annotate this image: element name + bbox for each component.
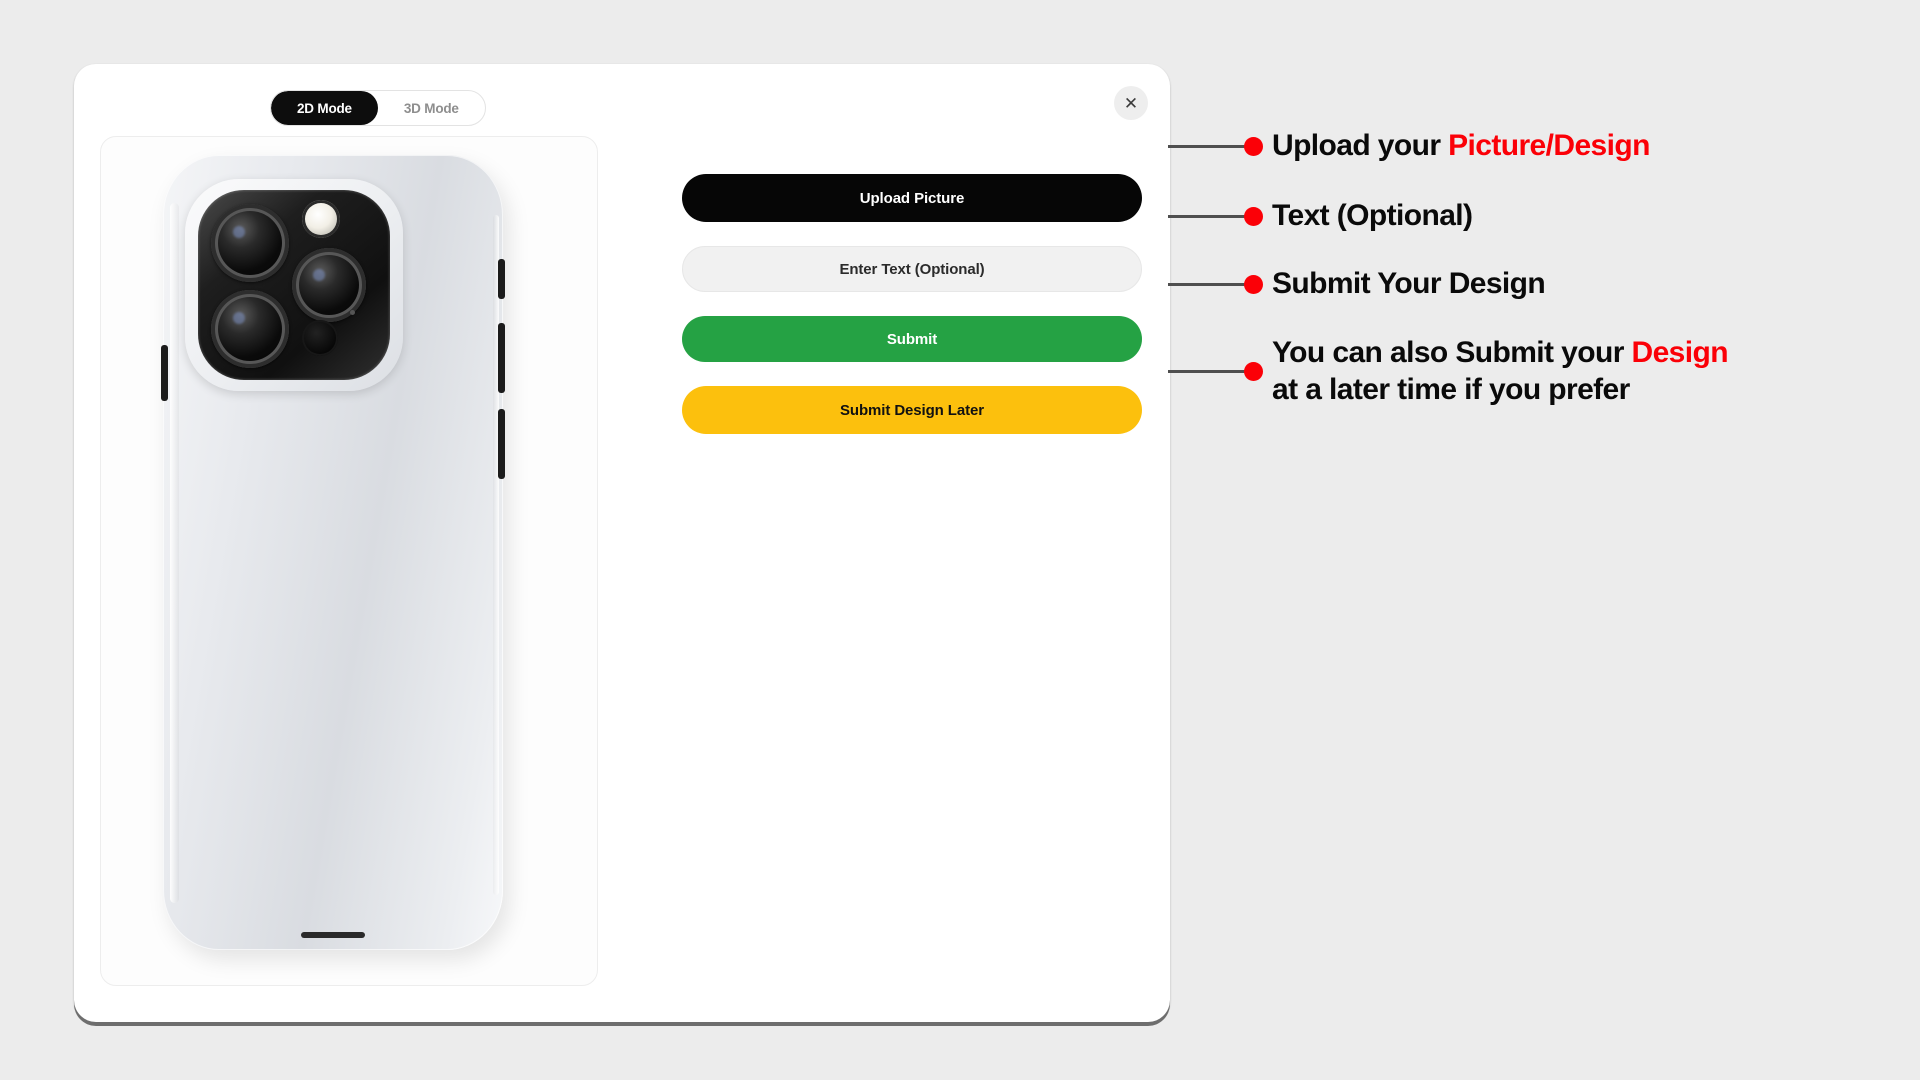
action-button-cutout [498, 259, 505, 299]
bullet-dot-icon [1244, 275, 1263, 294]
annotation-text-black: Text (Optional) [1272, 199, 1472, 232]
annotation-submit-black: Submit Your Design [1272, 267, 1545, 300]
phone-case-mockup [163, 155, 503, 955]
tab-2d-mode[interactable]: 2D Mode [271, 91, 378, 125]
annotation-later: You can also Submit your Design at a lat… [1168, 335, 1728, 408]
lidar-sensor-icon [302, 320, 338, 356]
tab-3d-mode[interactable]: 3D Mode [378, 91, 485, 125]
bullet-dot-icon [1244, 362, 1263, 381]
submit-design-later-button[interactable]: Submit Design Later [682, 386, 1142, 434]
case-left-rail [170, 203, 179, 903]
ultrawide-lens-icon [211, 290, 289, 368]
annotation-later-black-2: at a later time if you prefer [1272, 373, 1630, 406]
annotation-upload-red: Picture/Design [1448, 129, 1650, 162]
flash-icon [302, 200, 340, 238]
enter-text-input[interactable]: Enter Text (Optional) [682, 246, 1142, 292]
close-icon[interactable]: ✕ [1114, 86, 1148, 120]
annotation-upload: Upload your Picture/Design [1168, 128, 1650, 165]
annotation-later-text: You can also Submit your Design at a lat… [1272, 335, 1728, 408]
bullet-dot-icon [1244, 137, 1263, 156]
mute-button-cutout [161, 345, 168, 401]
case-right-rail [493, 215, 499, 895]
controls-column: Upload Picture Enter Text (Optional) Sub… [682, 174, 1142, 458]
annotation-text-text: Text (Optional) [1272, 198, 1472, 235]
volume-down-button-cutout [498, 409, 505, 479]
submit-button[interactable]: Submit [682, 316, 1142, 362]
camera-island [198, 190, 390, 380]
annotation-later-red: Design [1632, 336, 1728, 369]
leader-line [1168, 283, 1246, 286]
annotation-submit-text: Submit Your Design [1272, 266, 1545, 303]
microphone-icon [350, 310, 355, 315]
product-preview-pane[interactable] [100, 136, 598, 986]
annotation-later-black-1: You can also Submit your [1272, 336, 1632, 369]
camera-plateau [185, 179, 403, 391]
annotation-upload-black: Upload your [1272, 129, 1448, 162]
design-upload-modal: ✕ 2D Mode 3D Mode [74, 64, 1170, 1022]
annotation-submit: Submit Your Design [1168, 266, 1545, 303]
annotation-upload-text: Upload your Picture/Design [1272, 128, 1650, 165]
volume-up-button-cutout [498, 323, 505, 393]
leader-line [1168, 145, 1246, 148]
mode-toggle[interactable]: 2D Mode 3D Mode [270, 90, 486, 126]
annotation-overlay: Upload your Picture/Design Text (Optiona… [1168, 0, 1920, 1080]
annotation-text: Text (Optional) [1168, 198, 1472, 235]
upload-picture-button[interactable]: Upload Picture [682, 174, 1142, 222]
leader-line [1168, 215, 1246, 218]
charging-port-cutout [301, 932, 365, 938]
wide-lens-icon [211, 204, 289, 282]
bullet-dot-icon [1244, 207, 1263, 226]
leader-line [1168, 370, 1246, 373]
phone-case-body [163, 155, 503, 950]
